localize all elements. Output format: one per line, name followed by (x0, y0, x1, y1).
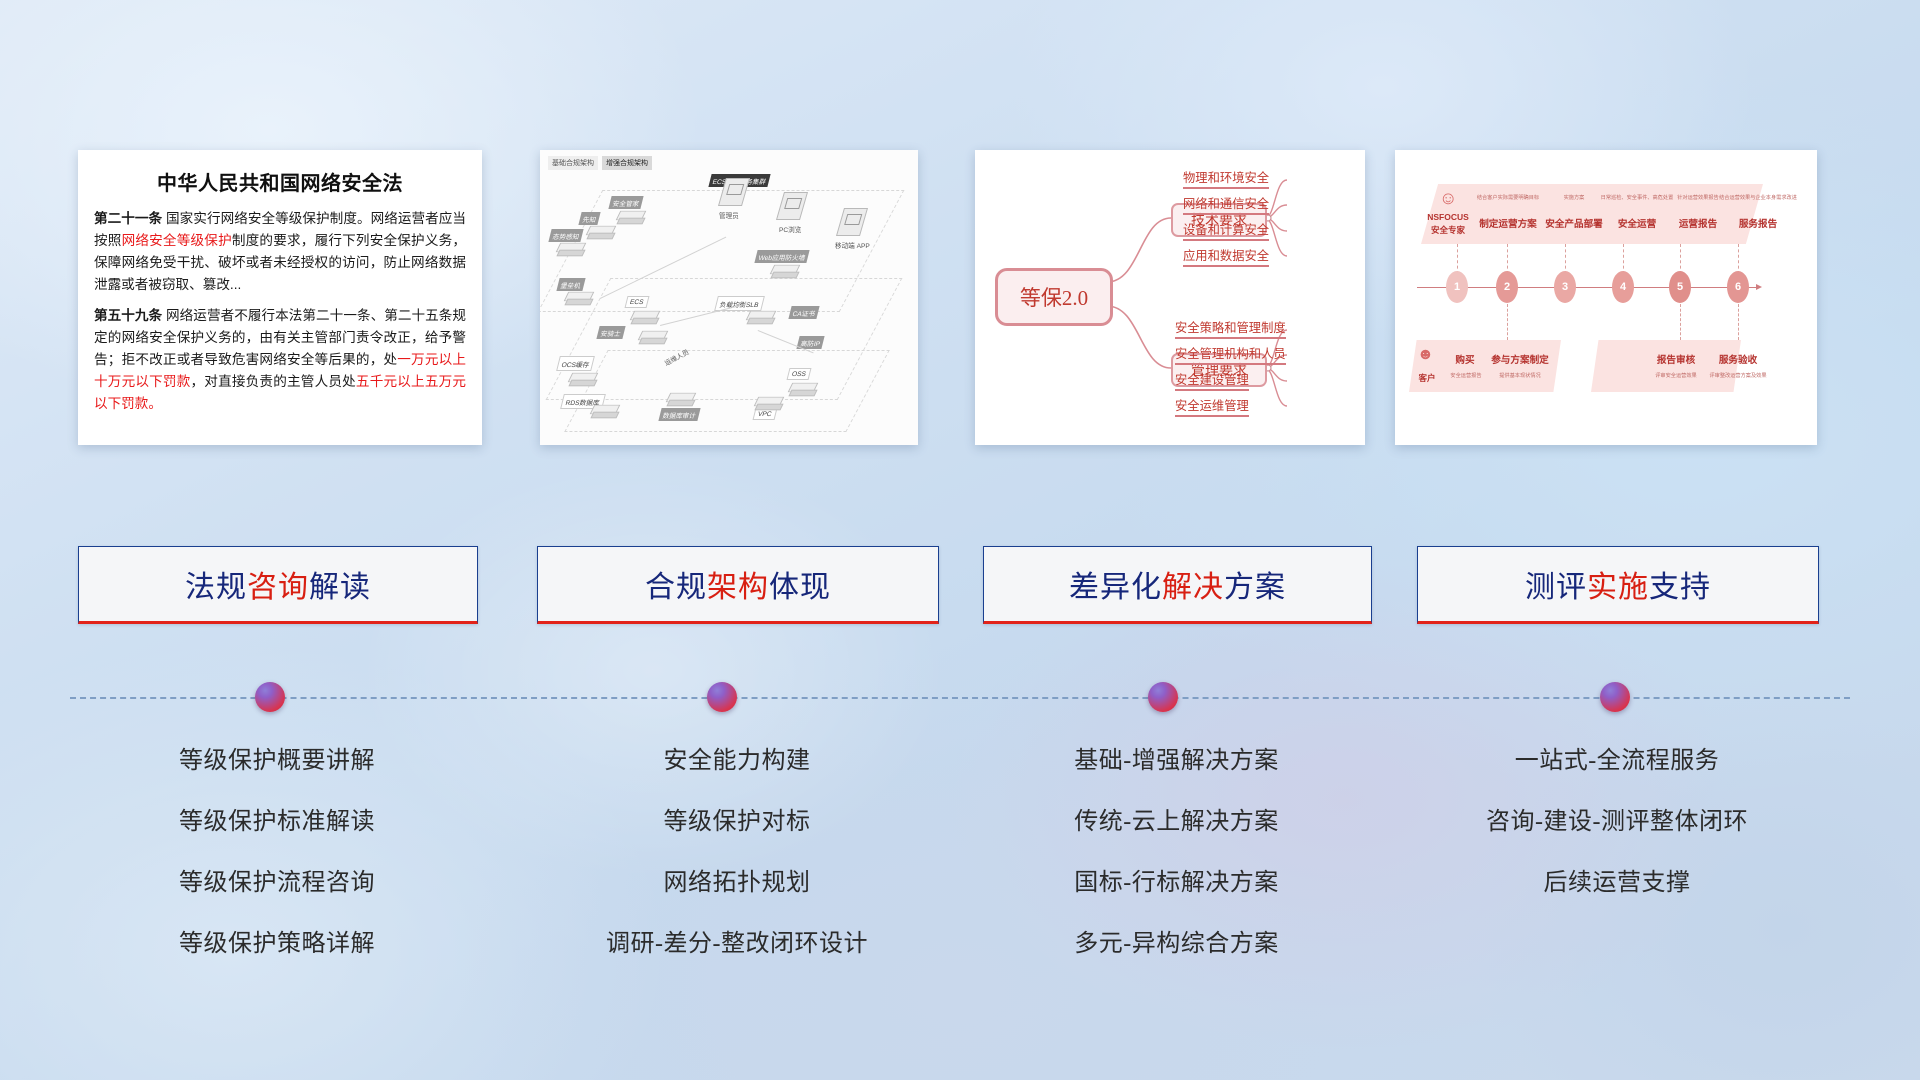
list-item: 国标-行标解决方案 (983, 862, 1370, 897)
mindmap-leaf-tech-3: 设备和计算安全 (1183, 220, 1269, 241)
timeline-dot-1[interactable] (255, 682, 285, 712)
section-list-1: 等级保护概要讲解 等级保护标准解读 等级保护流程咨询 等级保护策略详解 (78, 740, 476, 984)
list-item: 网络拓扑规划 (537, 862, 937, 897)
law-paragraph-1: 第二十一条 国家实行网络安全等级保护制度。网络运营者应当按照网络安全等级保护制度… (94, 208, 466, 296)
arch-node-db-audit (668, 390, 698, 412)
list-item: 等级保护标准解读 (78, 801, 476, 836)
roadmap-lead-4 (1623, 244, 1624, 274)
roadmap-customer-label: 客户 (1407, 372, 1447, 384)
list-item: 等级保护流程咨询 (78, 862, 476, 897)
arch-node-anqishi (640, 328, 670, 350)
section-header-3-part-c: 方案 (1224, 571, 1286, 604)
roadmap-sub-4: 日常巡检、安全事件、高危处置 (1599, 194, 1675, 201)
arch-node-ocs (570, 370, 600, 392)
roadmap-expert-line1: NSFOCUS (1419, 212, 1477, 222)
section-header-3[interactable]: 差异化解决方案 (983, 546, 1372, 624)
roadmap-step-dot-6[interactable]: 6 (1727, 271, 1749, 303)
roadmap-bottom-band-right (1591, 340, 1741, 392)
roadmap-bottom-label-1: 购买 (1445, 352, 1485, 366)
roadmap-lead-b6 (1738, 304, 1739, 340)
arch-node-oss (790, 380, 820, 402)
list-item: 后续运营支撑 (1417, 862, 1817, 897)
roadmap-axis (1417, 287, 1757, 288)
timeline-dot-3[interactable] (1148, 682, 1178, 712)
roadmap-label-6: 服务报告 (1719, 216, 1797, 230)
law-text-card: 中华人民共和国网络安全法 第二十一条 国家实行网络安全等级保护制度。网络运营者应… (78, 150, 482, 445)
architecture-card: 基础合规架构 增强合规架构 ECS应用服务集群 安全管家 先知 态势感知 堡垒机… (540, 150, 918, 445)
section-header-1-part-c: 解读 (309, 571, 371, 604)
law-article-1-highlight: 网络安全等级保护 (122, 233, 232, 248)
arch-node-security-butler (618, 208, 648, 230)
roadmap-label-4: 安全运营 (1599, 216, 1675, 230)
roadmap-step-dot-3[interactable]: 3 (1554, 271, 1576, 303)
list-item: 等级保护概要讲解 (78, 740, 476, 775)
arch-node-vpc (756, 394, 786, 416)
roadmap-bottom-label-3: 报告审核 (1645, 352, 1707, 366)
section-header-4-part-b: 实施 (1587, 571, 1649, 604)
roadmap-step-dot-2[interactable]: 2 (1496, 271, 1518, 303)
section-header-1-part-a: 法规 (185, 571, 247, 604)
arch-node-rds (592, 402, 622, 424)
arch-node-situational (558, 240, 588, 262)
section-list-2: 安全能力构建 等级保护对标 网络拓扑规划 调研-差分-整改闭环设计 (537, 740, 937, 984)
section-header-2-part-c: 体现 (769, 571, 831, 604)
section-header-2-title: 合规架构体现 (645, 562, 831, 606)
list-item: 传统-云上解决方案 (983, 801, 1370, 836)
arch-tag-anqishi: 安骑士 (596, 326, 625, 339)
roadmap-bottom-sub-1: 安全运营报告 (1443, 372, 1489, 379)
list-item: 等级保护策略详解 (78, 923, 476, 958)
roadmap-label-3: 安全产品部署 (1543, 216, 1605, 230)
law-body: 中华人民共和国网络安全法 第二十一条 国家实行网络安全等级保护制度。网络运营者应… (78, 150, 482, 445)
roadmap-sub-2: 结合客户实际需要明确目标 (1473, 194, 1543, 201)
list-item: 安全能力构建 (537, 740, 937, 775)
roadmap-label-2: 制定运营方案 (1473, 216, 1543, 230)
section-header-1[interactable]: 法规咨询解读 (78, 546, 478, 624)
roadmap-lead-5 (1680, 244, 1681, 274)
section-header-3-title: 差异化解决方案 (1069, 562, 1286, 606)
arch-node-xianzhi (588, 223, 618, 245)
law-paragraph-2: 第五十九条 网络运营者不履行本法第二十一条、第二十五条规定的网络安全保护义务的，… (94, 305, 466, 415)
timeline-dot-4[interactable] (1600, 682, 1630, 712)
roadmap-step-dot-5[interactable]: 5 (1669, 271, 1691, 303)
list-item: 咨询-建设-测评整体闭环 (1417, 801, 1817, 836)
section-header-3-part-a: 差异化 (1069, 571, 1162, 604)
list-item: 等级保护对标 (537, 801, 937, 836)
section-header-4[interactable]: 测评实施支持 (1417, 546, 1819, 624)
architecture-diagram: 基础合规架构 增强合规架构 ECS应用服务集群 安全管家 先知 态势感知 堡垒机… (540, 150, 918, 445)
arch-tag-ecs: ECS (625, 296, 650, 308)
arch-tag-mobile-app: 移动端 APP (832, 238, 873, 251)
expert-person-icon: ☺ (1439, 188, 1457, 209)
mindmap-leaf-mgmt-1: 安全策略和管理制度 (1175, 318, 1286, 339)
list-item: 调研-差分-整改闭环设计 (537, 923, 937, 958)
arch-tag-ocs: OCS缓存 (556, 356, 595, 371)
mindmap-leaf-tech-2: 网络和通信安全 (1183, 194, 1269, 215)
roadmap-step-dot-4[interactable]: 4 (1612, 271, 1634, 303)
timeline-dot-2[interactable] (707, 682, 737, 712)
customer-person-icon: ☻ (1417, 346, 1434, 364)
arch-node-bastion (566, 289, 596, 311)
roadmap-bottom-sub-4: 评审整改运营方案及效果 (1701, 372, 1775, 379)
list-item: 基础-增强解决方案 (983, 740, 1370, 775)
roadmap-lead-2 (1507, 244, 1508, 274)
arch-node-ecs (632, 308, 662, 330)
section-header-3-part-b: 解决 (1162, 571, 1224, 604)
tab-enhanced-compliance[interactable]: 增强合规架构 (602, 156, 652, 170)
roadmap-lead-b2 (1507, 304, 1508, 340)
roadmap-lead-3 (1565, 244, 1566, 274)
mindmap-leaf-mgmt-2: 安全管理机构和人员 (1175, 344, 1286, 365)
section-header-1-title: 法规咨询解读 (185, 562, 371, 606)
arch-tag-oss: OSS (787, 368, 812, 380)
roadmap-lead-b5 (1680, 304, 1681, 340)
law-article-1-label: 第二十一条 (94, 211, 162, 226)
section-header-2-part-a: 合规 (645, 571, 707, 604)
roadmap-sub-3: 实施方案 (1543, 194, 1605, 201)
roadmap-diagram: ☺ NSFOCUS 安全专家 结合客户实际需要明确目标 制定运营方案 实施方案 … (1395, 150, 1817, 445)
section-header-2[interactable]: 合规架构体现 (537, 546, 939, 624)
mindmap-leaf-mgmt-4: 安全运维管理 (1175, 396, 1249, 417)
roadmap-sub-6: 结合运营效果与企业本身需求改进 (1719, 194, 1797, 201)
section-header-1-part-b: 咨询 (247, 571, 309, 604)
mindmap-leaf-tech-4: 应用和数据安全 (1183, 246, 1269, 267)
roadmap-lead-1 (1457, 244, 1458, 274)
mindmap-diagram: 等保2.0 技术要求 物理和环境安全 网络和通信安全 设备和计算安全 应用和数据… (975, 150, 1365, 445)
section-list-3: 基础-增强解决方案 传统-云上解决方案 国标-行标解决方案 多元-异构综合方案 (983, 740, 1370, 984)
mindmap-leaf-mgmt-3: 安全建设管理 (1175, 370, 1249, 391)
law-article-2-text-b: ，对直接负责的主管人员处 (191, 374, 356, 389)
law-article-2-label: 第五十九条 (94, 308, 162, 323)
timeline-axis (70, 697, 1850, 701)
arch-node-waf (772, 262, 802, 284)
section-header-2-part-b: 架构 (707, 571, 769, 604)
arch-tag-admin: 管理员 (716, 208, 742, 221)
roadmap-bottom-label-2: 参与方案制定 (1485, 352, 1555, 366)
list-item: 多元-异构综合方案 (983, 923, 1370, 958)
section-header-4-part-a: 测评 (1525, 571, 1587, 604)
list-item: 一站式-全流程服务 (1417, 740, 1817, 775)
roadmap-step-dot-1[interactable]: 1 (1446, 271, 1468, 303)
image-card-row: 中华人民共和国网络安全法 第二十一条 国家实行网络安全等级保护制度。网络运营者应… (0, 0, 1920, 460)
roadmap-bottom-label-4: 服务验收 (1707, 352, 1769, 366)
roadmap-card: ☺ NSFOCUS 安全专家 结合客户实际需要明确目标 制定运营方案 实施方案 … (1395, 150, 1817, 445)
roadmap-expert-line2: 安全专家 (1419, 224, 1477, 236)
roadmap-lead-6 (1738, 244, 1739, 274)
mindmap-leaf-tech-1: 物理和环境安全 (1183, 168, 1269, 189)
section-header-4-part-c: 支持 (1649, 571, 1711, 604)
law-title: 中华人民共和国网络安全法 (94, 167, 466, 196)
architecture-tabs: 基础合规架构 增强合规架构 (548, 156, 652, 170)
arch-node-slb (748, 308, 778, 330)
roadmap-bottom-sub-2: 提供基本现状情况 (1485, 372, 1555, 379)
mindmap-card: 等保2.0 技术要求 物理和环境安全 网络和通信安全 设备和计算安全 应用和数据… (975, 150, 1365, 445)
section-header-4-title: 测评实施支持 (1525, 562, 1711, 606)
arch-tag-pc-browse: PC浏览 (776, 222, 804, 235)
section-list-4: 一站式-全流程服务 咨询-建设-测评整体闭环 后续运营支撑 (1417, 740, 1817, 923)
arch-tag-ca: CA证书 (788, 306, 820, 319)
mindmap-root: 等保2.0 (995, 268, 1113, 326)
tab-base-compliance[interactable]: 基础合规架构 (548, 156, 598, 170)
